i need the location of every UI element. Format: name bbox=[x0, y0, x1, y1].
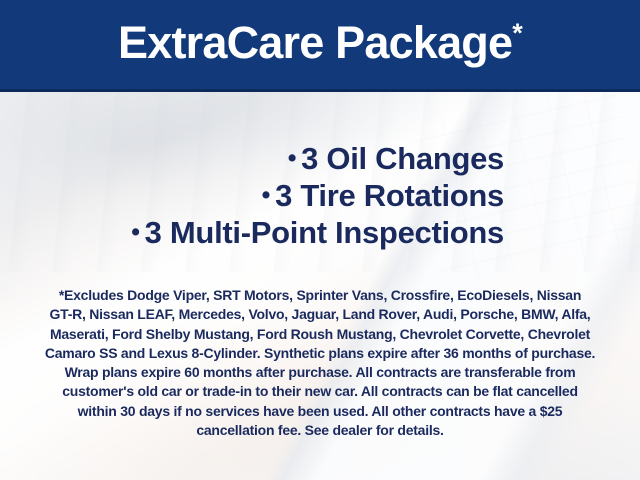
disclaimer-line: Wrap plans expire 60 months after purcha… bbox=[26, 363, 614, 382]
bullet-icon: • bbox=[288, 144, 296, 172]
disclaimer-line: within 30 days if no services have been … bbox=[26, 402, 614, 421]
disclaimer-line: cancellation fee. See dealer for details… bbox=[26, 421, 614, 440]
benefit-label: 3 Multi-Point Inspections bbox=[145, 215, 504, 250]
disclaimer-line: *Excludes Dodge Viper, SRT Motors, Sprin… bbox=[26, 286, 614, 305]
disclaimer-line: Camaro SS and Lexus 8-Cylinder. Syntheti… bbox=[26, 344, 614, 363]
content-layer: •3 Oil Changes •3 Tire Rotations •3 Mult… bbox=[0, 0, 640, 480]
disclaimer-text: *Excludes Dodge Viper, SRT Motors, Sprin… bbox=[26, 286, 614, 440]
bullet-icon: • bbox=[131, 218, 139, 246]
list-item: •3 Tire Rotations bbox=[40, 177, 504, 214]
extracare-package-ad: ExtraCare Package* •3 Oil Changes •3 Tir… bbox=[0, 0, 640, 480]
benefit-label: 3 Oil Changes bbox=[301, 141, 504, 176]
benefit-label: 3 Tire Rotations bbox=[275, 178, 504, 213]
list-item: •3 Multi-Point Inspections bbox=[40, 214, 504, 251]
benefits-list: •3 Oil Changes •3 Tire Rotations •3 Mult… bbox=[0, 140, 640, 251]
disclaimer-line: GT-R, Nissan LEAF, Mercedes, Volvo, Jagu… bbox=[26, 305, 614, 324]
bullet-icon: • bbox=[262, 181, 270, 209]
disclaimer-line: Maserati, Ford Shelby Mustang, Ford Rous… bbox=[26, 325, 614, 344]
list-item: •3 Oil Changes bbox=[40, 140, 504, 177]
disclaimer-line: customer's old car or trade-in to their … bbox=[26, 382, 614, 401]
